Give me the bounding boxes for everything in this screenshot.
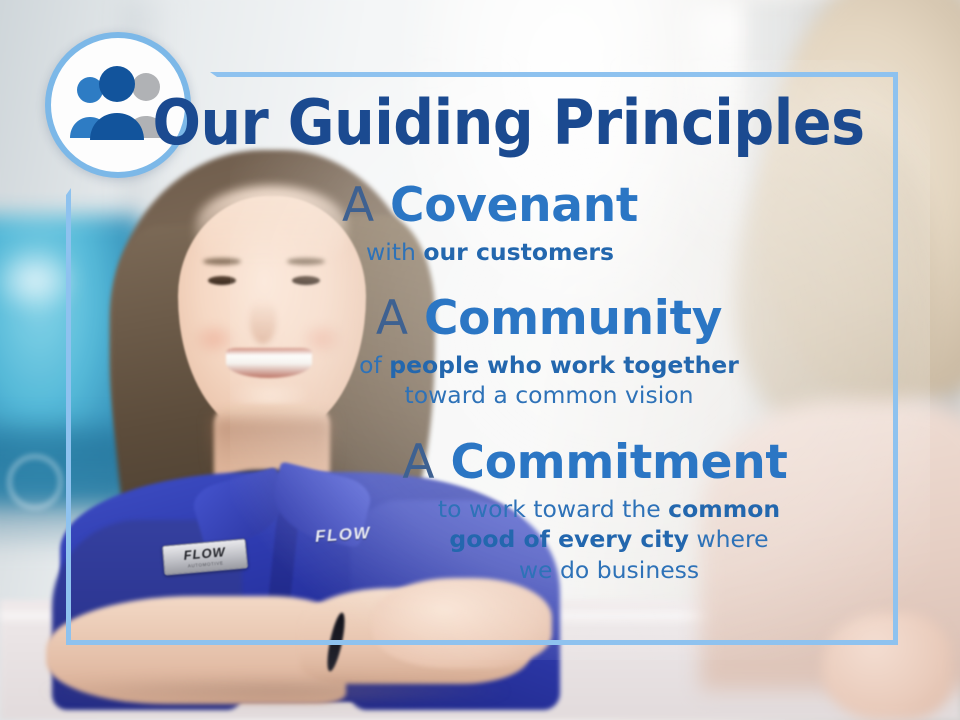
principle-subtext-line: of people who work together <box>208 350 890 381</box>
principle-subtext-line: we do business <box>328 555 890 586</box>
page-title: Our Guiding Principles <box>38 92 921 154</box>
subtext-run-bold: our customers <box>423 238 614 266</box>
subtext-run: of <box>359 351 389 379</box>
principle-subtext: of people who work together toward a com… <box>208 350 890 411</box>
subtext-run: we do business <box>519 556 699 584</box>
principles-list: A Covenant with our customers A Communit… <box>150 180 890 591</box>
principle-key-word: Commitment <box>451 435 788 490</box>
second-person-hand <box>822 612 952 720</box>
principle-subtext: to work toward the common good of every … <box>300 494 890 586</box>
subtext-run-bold: common <box>668 495 780 523</box>
subtext-run-bold: people who work together <box>389 351 739 379</box>
principle-subtext-line: to work toward the common <box>328 494 890 525</box>
associate-desk-shadow <box>40 676 510 706</box>
principle-subtext-line: with our customers <box>366 238 614 266</box>
principle-subtext-line: toward a common vision <box>208 380 890 411</box>
principle-covenant: A Covenant with our customers <box>150 180 890 267</box>
principle-heading: A Covenant <box>150 180 830 233</box>
principle-key-word: Covenant <box>390 178 638 233</box>
subtext-run-bold: good of every city <box>449 525 689 553</box>
associate-clasped-hands <box>372 578 552 668</box>
principle-lead-word: A <box>376 291 424 346</box>
subtext-run: with <box>366 238 423 266</box>
principle-heading: A Commitment <box>300 437 890 490</box>
principle-commitment: A Commitment to work toward the common g… <box>150 437 890 585</box>
principle-heading: A Community <box>208 293 890 346</box>
guiding-principles-graphic: FLOW AUTOMOTIVE FLOW <box>0 0 960 720</box>
principle-subtext-line: good of every city where <box>328 524 890 555</box>
principle-community: A Community of people who work together … <box>150 293 890 411</box>
subtext-run: toward a common vision <box>404 381 693 409</box>
principle-lead-word: A <box>342 178 390 233</box>
principle-key-word: Community <box>424 291 722 346</box>
principle-subtext: with our customers <box>150 237 830 268</box>
subtext-run: to work toward the <box>438 495 668 523</box>
subtext-run: where <box>689 525 769 553</box>
principle-lead-word: A <box>402 435 450 490</box>
